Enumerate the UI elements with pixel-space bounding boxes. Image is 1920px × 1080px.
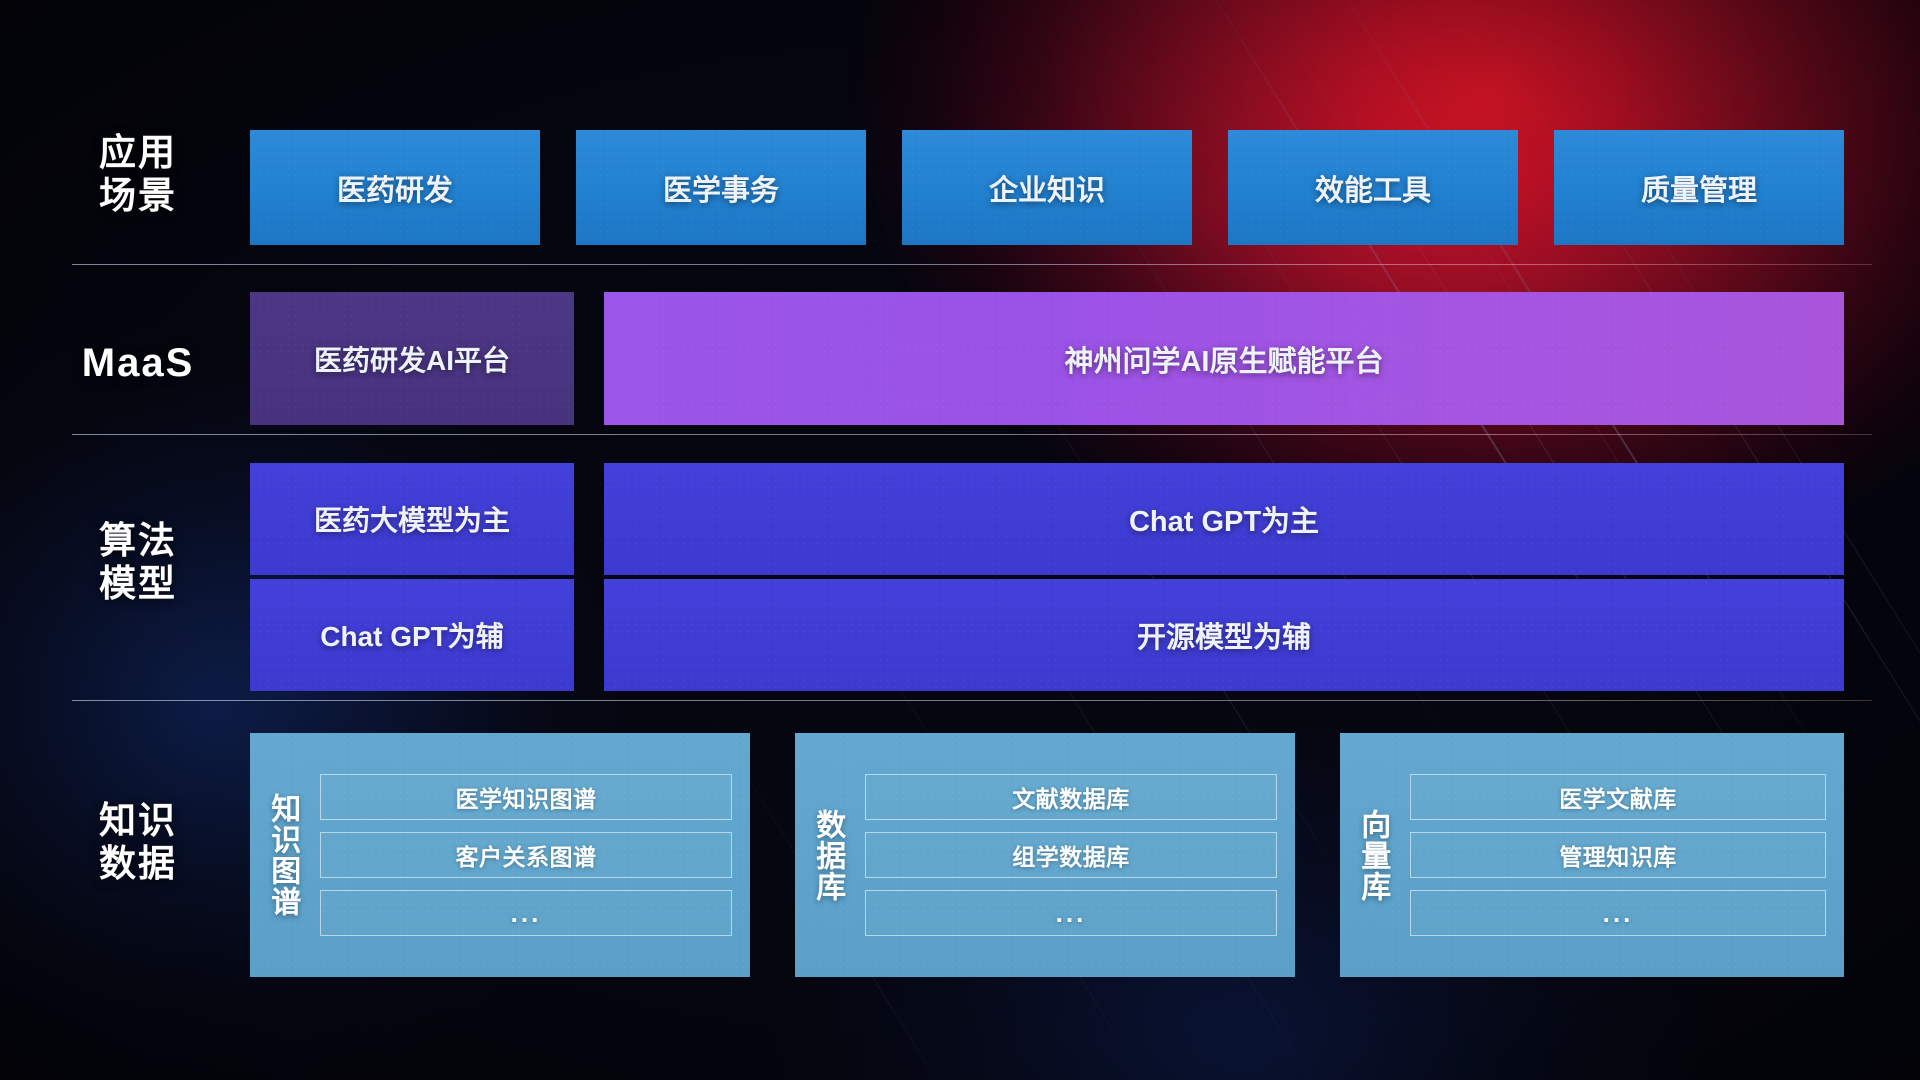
row-label-knowledge-data: 知识 数据 [72, 800, 204, 886]
algo-box-label: 医药大模型为主 [314, 499, 510, 539]
knowledge-item[interactable]: 管理知识库 [1410, 832, 1826, 878]
row-label-line: 知识 [72, 800, 204, 843]
maas-platform-box[interactable]: 医药研发AI平台 [250, 292, 574, 425]
architecture-diagram: 应用 场景 医药研发 医学事务 企业知识 效能工具 质量管理 MaaS 医药研发… [0, 0, 1920, 1080]
maas-enablement-platform-bar[interactable]: 神州问学AI原生赋能平台 [604, 292, 1844, 425]
knowledge-group-label: 向量库 [1340, 733, 1404, 977]
app-box-label: 医学事务 [663, 167, 779, 209]
knowledge-item[interactable]: 医学文献库 [1410, 774, 1826, 820]
knowledge-item[interactable]: 文献数据库 [865, 774, 1277, 820]
knowledge-item[interactable]: 医学知识图谱 [320, 774, 732, 820]
maas-enablement-label: 神州问学AI原生赋能平台 [1064, 338, 1383, 380]
row-label-line: MaaS [72, 340, 204, 386]
knowledge-group-items: 文献数据库 组学数据库 ... [859, 733, 1295, 977]
row-label-line: 场景 [72, 175, 204, 218]
app-box-label: 效能工具 [1315, 167, 1431, 209]
knowledge-item-more[interactable]: ... [1410, 890, 1826, 936]
algo-box-label: 开源模型为辅 [1137, 614, 1311, 656]
algo-box-opensource-aux[interactable]: 开源模型为辅 [604, 579, 1844, 691]
divider-1 [72, 264, 1872, 265]
knowledge-group-items: 医学知识图谱 客户关系图谱 ... [314, 733, 750, 977]
row-label-line: 模型 [72, 563, 204, 606]
row-label-application-scenarios: 应用 场景 [72, 132, 204, 218]
knowledge-item[interactable]: 客户关系图谱 [320, 832, 732, 878]
app-box-3[interactable]: 企业知识 [902, 130, 1192, 245]
maas-platform-label: 医药研发AI平台 [314, 339, 510, 379]
knowledge-item[interactable]: 组学数据库 [865, 832, 1277, 878]
row-label-line: 算法 [72, 520, 204, 563]
algo-box-chatgpt-aux[interactable]: Chat GPT为辅 [250, 579, 574, 691]
knowledge-group-label: 知识图谱 [250, 733, 314, 977]
app-box-label: 医药研发 [337, 167, 453, 209]
knowledge-item-more[interactable]: ... [865, 890, 1277, 936]
row-label-algorithm-model: 算法 模型 [72, 520, 204, 606]
algo-box-chatgpt-main[interactable]: Chat GPT为主 [604, 463, 1844, 575]
algo-box-pharma-main[interactable]: 医药大模型为主 [250, 463, 574, 575]
app-box-5[interactable]: 质量管理 [1554, 130, 1844, 245]
app-box-2[interactable]: 医学事务 [576, 130, 866, 245]
knowledge-group-label: 数据库 [795, 733, 859, 977]
knowledge-item-more[interactable]: ... [320, 890, 732, 936]
app-box-4[interactable]: 效能工具 [1228, 130, 1518, 245]
row-label-line: 数据 [72, 843, 204, 886]
knowledge-group-items: 医学文献库 管理知识库 ... [1404, 733, 1844, 977]
knowledge-group-vector[interactable]: 向量库 医学文献库 管理知识库 ... [1340, 733, 1844, 977]
row-label-maas: MaaS [72, 340, 204, 386]
algo-box-label: Chat GPT为辅 [320, 615, 504, 655]
knowledge-group-database[interactable]: 数据库 文献数据库 组学数据库 ... [795, 733, 1295, 977]
app-box-1[interactable]: 医药研发 [250, 130, 540, 245]
row-label-line: 应用 [72, 132, 204, 175]
app-box-label: 质量管理 [1641, 167, 1757, 209]
divider-2 [72, 434, 1872, 435]
algo-box-label: Chat GPT为主 [1129, 498, 1319, 540]
knowledge-group-graph[interactable]: 知识图谱 医学知识图谱 客户关系图谱 ... [250, 733, 750, 977]
divider-3 [72, 700, 1872, 701]
app-box-label: 企业知识 [989, 167, 1105, 209]
